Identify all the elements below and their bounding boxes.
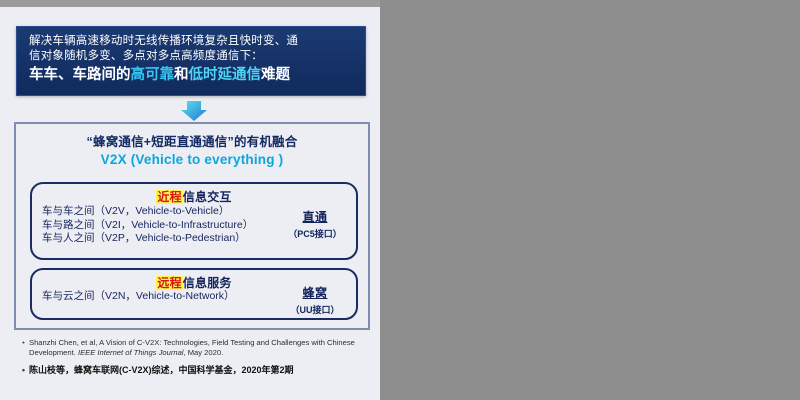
top-strip-right	[380, 0, 800, 400]
fusion-title: “蜂窝通信+短距直通通信”的有机融合	[16, 131, 368, 150]
reference-journal: IEEE Internet of Things Journal	[78, 348, 184, 357]
reference-text-b: , May 2020.	[184, 348, 224, 357]
banner-line-2: 信对象随机多变、多点对多点高频度通信下：	[29, 49, 355, 64]
list-item: • Shanzhi Chen, et al, A Vision of C-V2X…	[18, 338, 370, 358]
list-item: 车与云之间（V2N，Vehicle-to-Network）	[42, 290, 235, 304]
left-panel: 解决车辆高速移动时无线传播环境复杂且快时变、通 信对象随机多变、多点对多点高频度…	[0, 0, 388, 400]
v2x-definition-box: “蜂窝通信+短距直通通信”的有机融合 V2X (Vehicle to every…	[14, 122, 370, 330]
near-range-title: 近程信息交互	[32, 188, 356, 205]
near-range-tag-label: 直通	[282, 208, 348, 225]
banner-line3-c: 难题	[261, 67, 290, 83]
near-range-title-rest: 信息交互	[183, 190, 232, 204]
down-arrow-icon	[181, 101, 207, 121]
bullet-icon: •	[18, 338, 29, 358]
near-range-lines: 车与车之间（V2V，Vehicle-to-Vehicle） 车与路之间（V2I，…	[42, 205, 253, 246]
far-range-box: 远程信息服务 车与云之间（V2N，Vehicle-to-Network） 蜂窝 …	[30, 268, 358, 320]
banner-highlight-reliability: 高可靠	[131, 67, 175, 83]
problem-statement-banner: 解决车辆高速移动时无线传播环境复杂且快时变、通 信对象随机多变、多点对多点高频度…	[16, 26, 366, 96]
far-range-tag-label: 蜂窝	[282, 284, 348, 301]
references-list: • Shanzhi Chen, et al, A Vision of C-V2X…	[18, 338, 370, 382]
list-item: 车与路之间（V2I，Vehicle-to-Infrastructure）	[42, 219, 253, 233]
far-range-title-rest: 信息服务	[183, 276, 232, 290]
list-item: • 陈山枝等，蜂窝车联网(C-V2X)综述，中国科学基金，2020年第2期	[18, 364, 370, 376]
banner-line-3: 车车、车路间的高可靠和低时延通信难题	[29, 66, 355, 85]
far-range-title-highlight: 远程	[156, 276, 182, 290]
near-range-title-highlight: 近程	[156, 190, 182, 204]
banner-highlight-latency: 低时延通信	[189, 67, 262, 83]
banner-line-1: 解决车辆高速移动时无线传播环境复杂且快时变、通	[29, 34, 355, 49]
list-item: 车与车之间（V2V，Vehicle-to-Vehicle）	[42, 205, 253, 219]
far-range-interface-tag: 蜂窝 （UU接口）	[282, 284, 348, 316]
near-range-tag-sub: （PC5接口）	[282, 227, 348, 240]
reference-text: 陈山枝等，蜂窝车联网(C-V2X)综述，中国科学基金，2020年第2期	[29, 364, 294, 376]
banner-line3-b: 和	[174, 67, 189, 83]
bullet-icon: •	[18, 364, 29, 376]
far-range-tag-sub: （UU接口）	[282, 303, 348, 316]
near-range-box: 近程信息交互 车与车之间（V2V，Vehicle-to-Vehicle） 车与路…	[30, 182, 358, 260]
far-range-lines: 车与云之间（V2N，Vehicle-to-Network）	[42, 290, 235, 304]
v2x-title: V2X (Vehicle to everything )	[16, 152, 368, 167]
list-item: 车与人之间（V2P，Vehicle-to-Pedestrian）	[42, 232, 253, 246]
reference-text: Shanzhi Chen, et al, A Vision of C-V2X: …	[29, 338, 370, 358]
near-range-interface-tag: 直通 （PC5接口）	[282, 208, 348, 240]
banner-line3-a: 车车、车路间的	[29, 67, 131, 83]
